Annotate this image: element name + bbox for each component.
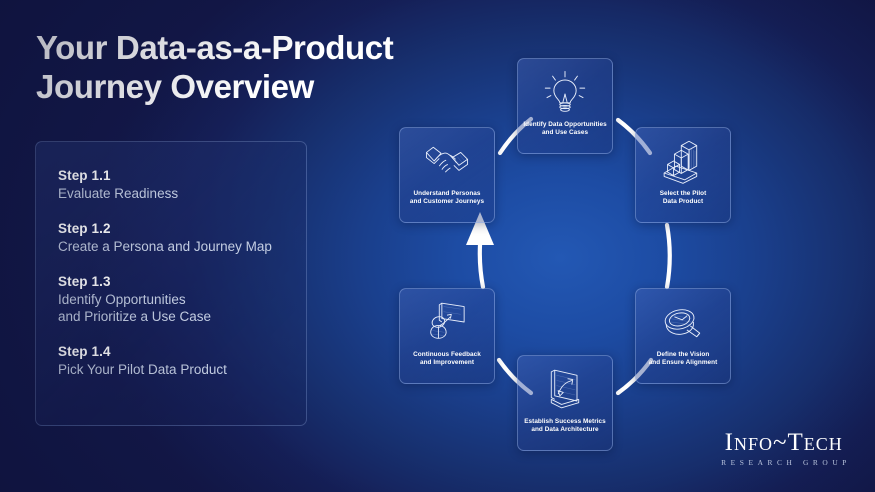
step-number: Step 1.4 [58, 343, 306, 361]
step-number: Step 1.1 [58, 167, 306, 185]
step-description: Identify Opportunities and Prioritize a … [58, 291, 306, 325]
page-title: Your Data-as-a-Product Journey Overview [36, 28, 393, 106]
cycle-node-identify-data-opportunities[interactable]: Identify Data Opportunities and Use Case… [517, 58, 613, 154]
step-item: Step 1.1 Evaluate Readiness [58, 167, 306, 202]
buildings-icon [657, 137, 709, 185]
cycle-node-label: Continuous Feedback and Improvement [409, 351, 485, 368]
cycle-node-label: Define the Vision and Ensure Alignment [645, 351, 722, 368]
lightbulb-icon [539, 68, 591, 116]
cycle-node-select-pilot-data-product[interactable]: Select the Pilot Data Product [635, 127, 731, 223]
step-item: Step 1.4 Pick Your Pilot Data Product [58, 343, 306, 378]
step-description: Create a Persona and Journey Map [58, 238, 306, 255]
cycle-node-establish-success-metrics[interactable]: Establish Success Metrics and Data Archi… [517, 355, 613, 451]
magnifying-glass-icon [657, 298, 709, 346]
cycle-node-label: Understand Personas and Customer Journey… [406, 190, 488, 207]
cycle-node-understand-personas[interactable]: Understand Personas and Customer Journey… [399, 127, 495, 223]
step-item: Step 1.2 Create a Persona and Journey Ma… [58, 220, 306, 255]
step-description: Pick Your Pilot Data Product [58, 361, 306, 378]
logo-name: Info~Tech [717, 429, 852, 456]
step-description: Evaluate Readiness [58, 185, 306, 202]
handshake-icon [421, 137, 473, 185]
cycle-diagram: Identify Data Opportunities and Use Case… [370, 40, 770, 460]
cycle-node-label: Identify Data Opportunities and Use Case… [519, 121, 610, 138]
cycle-node-continuous-feedback[interactable]: Continuous Feedback and Improvement [399, 288, 495, 384]
logo: Info~Tech RESEARCH GROUP [717, 429, 852, 467]
person-presentation-icon [421, 298, 473, 346]
logo-tagline: RESEARCH GROUP [717, 458, 852, 467]
cycle-node-label: Establish Success Metrics and Data Archi… [520, 418, 610, 435]
step-item: Step 1.3 Identify Opportunities and Prio… [58, 273, 306, 325]
growth-chart-icon [539, 365, 591, 413]
steps-panel: Step 1.1 Evaluate Readiness Step 1.2 Cre… [35, 141, 307, 426]
cycle-node-define-vision[interactable]: Define the Vision and Ensure Alignment [635, 288, 731, 384]
cycle-node-label: Select the Pilot Data Product [656, 190, 711, 207]
step-number: Step 1.3 [58, 273, 306, 291]
step-number: Step 1.2 [58, 220, 306, 238]
